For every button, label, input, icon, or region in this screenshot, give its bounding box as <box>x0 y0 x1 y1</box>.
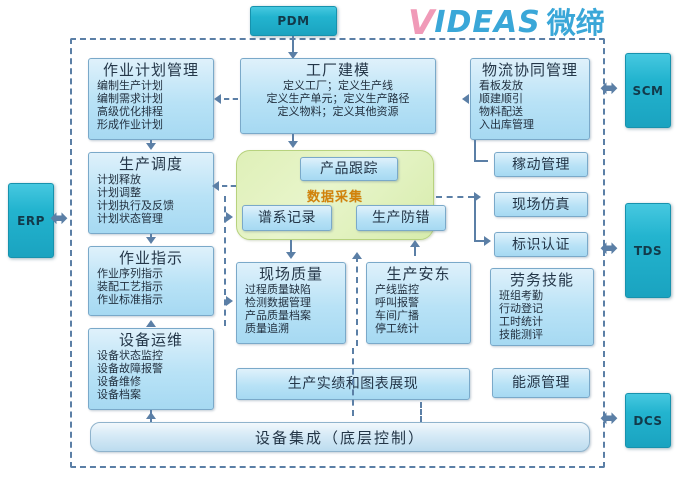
module-genealogy-record[interactable]: 谱系记录 <box>242 205 332 231</box>
module-item: 计划调整 <box>89 186 141 199</box>
connector-arrow-left <box>212 181 219 191</box>
connector-right-vertical <box>474 198 476 240</box>
module-title: 劳务技能 <box>510 271 574 289</box>
module-factory-modeling[interactable]: 工厂建模 定义工厂；定义生产线 定义生产单元；定义生产路径 定义物料；定义其他资… <box>240 58 436 134</box>
connector-devicebar-right <box>420 402 422 422</box>
module-title: 设备运维 <box>119 331 183 349</box>
connector-scheduling-panel <box>222 185 236 187</box>
module-title: 作业计划管理 <box>103 61 199 79</box>
module-item: 过程质量缺陷 <box>237 283 311 296</box>
module-item: 车间广播 <box>367 309 419 322</box>
connector-arrow-up <box>410 240 420 247</box>
module-item: 技能测评 <box>491 328 543 341</box>
module-item: 质量追溯 <box>237 322 289 335</box>
connector-arrow-left <box>462 94 469 104</box>
module-item: 工时统计 <box>491 315 543 328</box>
module-title: 稼动管理 <box>512 156 570 174</box>
module-title: 能源管理 <box>512 374 570 392</box>
module-title: 标识认证 <box>512 236 570 254</box>
scm-link-arrow: ⬌ <box>600 78 618 100</box>
module-item: 看板发放 <box>471 79 523 92</box>
external-system-pdm[interactable]: PDM <box>250 6 337 36</box>
module-production-scheduling[interactable]: 生产调度 计划释放 计划调整 计划执行及反馈 计划状态管理 <box>88 152 214 234</box>
module-item: 作业序列指示 <box>89 267 163 280</box>
module-production-andon[interactable]: 生产安东 产线监控 呼叫报警 车间广播 停工统计 <box>366 262 471 344</box>
module-identification-certification[interactable]: 标识认证 <box>494 232 588 257</box>
mes-architecture-diagram: V IDEAS 微缔 PDM ERP SCM TDS DCS ⬌ ⬌ ⬌ ⬌ 作… <box>0 0 697 480</box>
module-item: 物料配送 <box>471 105 523 118</box>
tds-link-arrow: ⬌ <box>600 238 618 260</box>
module-item: 作业标准指示 <box>89 293 163 306</box>
connector-arrow-left <box>214 94 221 104</box>
connector-arrow-up <box>352 252 362 259</box>
module-item: 产线监控 <box>367 283 419 296</box>
module-item: 设备维修 <box>89 375 141 388</box>
module-shopfloor-simulation[interactable]: 现场仿真 <box>494 192 588 217</box>
erp-link-arrow: ⬌ <box>50 208 68 230</box>
connector-arrow-right <box>226 212 233 222</box>
dcs-link-arrow: ⬌ <box>600 408 618 430</box>
module-item: 检测数据管理 <box>237 296 311 309</box>
external-system-tds[interactable]: TDS <box>625 203 671 298</box>
module-production-plan[interactable]: 作业计划管理 编制生产计划 编制需求计划 高级优化排程 形成作业计划 <box>88 58 214 140</box>
connector-panel-to-right <box>436 196 474 198</box>
module-title: 作业指示 <box>119 249 183 267</box>
module-shopfloor-quality[interactable]: 现场质量 过程质量缺陷 检测数据管理 产品质量档案 质量追溯 <box>236 262 346 344</box>
connector-logistics-vertical <box>474 140 476 162</box>
external-system-dcs[interactable]: DCS <box>625 393 671 448</box>
external-system-erp[interactable]: ERP <box>8 183 54 258</box>
connector-quality-andon-spine <box>356 256 358 346</box>
module-item: 设备状态监控 <box>89 349 163 362</box>
logo-chinese-name: 微缔 <box>547 6 605 40</box>
company-logo: V IDEAS 微缔 <box>408 6 605 40</box>
module-item: 计划执行及反馈 <box>89 199 174 212</box>
module-title: 现场仿真 <box>512 196 570 214</box>
connector-arrow-down <box>288 141 298 148</box>
module-product-tracking[interactable]: 产品跟踪 <box>300 157 398 181</box>
module-item: 产品质量档案 <box>237 309 311 322</box>
module-oee-management[interactable]: 稼动管理 <box>494 152 588 177</box>
connector-logistics-horizontal <box>474 160 488 162</box>
module-item: 呼叫报警 <box>367 296 419 309</box>
module-labor-skill[interactable]: 劳务技能 班组考勤 行动登记 工时统计 技能测评 <box>490 268 594 346</box>
module-item: 高级优化排程 <box>89 105 163 118</box>
connector-arrow-right <box>226 296 233 306</box>
module-item: 停工统计 <box>367 322 419 335</box>
connector-arrow-down <box>146 237 156 244</box>
module-energy-management[interactable]: 能源管理 <box>492 368 590 398</box>
module-item: 设备档案 <box>89 388 141 401</box>
module-equipment-maintenance[interactable]: 设备运维 设备状态监控 设备故障报警 设备维修 设备档案 <box>88 328 214 410</box>
module-work-instruction[interactable]: 作业指示 作业序列指示 装配工艺指示 作业标准指示 <box>88 246 214 316</box>
module-title: 现场质量 <box>259 265 323 283</box>
module-item: 编制需求计划 <box>89 92 163 105</box>
module-item: 编制生产计划 <box>89 79 163 92</box>
connector-arrow-up <box>146 320 156 327</box>
module-title: 谱系记录 <box>258 209 316 227</box>
module-logistics-collaboration[interactable]: 物流协同管理 看板发放 顺建顺引 物料配送 入出库管理 <box>470 58 590 140</box>
connector-arrow-down <box>286 252 296 259</box>
module-item: 定义物料；定义其他资源 <box>278 105 399 118</box>
module-title: 生产安东 <box>386 265 450 283</box>
module-item: 班组考勤 <box>491 289 543 302</box>
module-item: 入出库管理 <box>471 118 534 131</box>
module-item: 计划释放 <box>89 173 141 186</box>
module-item: 定义生产单元；定义生产路径 <box>267 92 410 105</box>
external-system-scm[interactable]: SCM <box>625 53 671 128</box>
connector-arrow-right <box>484 236 491 246</box>
logo-v-mark: V <box>408 6 434 40</box>
connector-arrow-down <box>146 143 156 150</box>
module-title: 产品跟踪 <box>320 160 378 178</box>
logo-wordmark: IDEAS <box>434 6 540 40</box>
module-item: 计划状态管理 <box>89 212 163 225</box>
module-title: 物流协同管理 <box>482 61 578 79</box>
module-title: 生产防错 <box>372 209 430 227</box>
module-title: 工厂建模 <box>306 61 370 79</box>
connector-arrow-up <box>146 412 156 419</box>
data-collection-caption: 数据采集 <box>236 186 434 205</box>
module-item: 形成作业计划 <box>89 118 163 131</box>
module-item: 设备故障报警 <box>89 362 163 375</box>
module-item: 定义工厂；定义生产线 <box>283 79 393 92</box>
module-title: 生产调度 <box>119 155 183 173</box>
module-item: 装配工艺指示 <box>89 280 163 293</box>
connector-reporting-spine <box>352 348 354 416</box>
module-device-integration[interactable]: 设备集成（底层控制） <box>90 422 590 452</box>
module-item: 顺建顺引 <box>471 92 523 105</box>
module-error-proofing[interactable]: 生产防错 <box>356 205 446 231</box>
connector-plan-factorymodel <box>224 98 238 100</box>
module-item: 行动登记 <box>491 302 543 315</box>
